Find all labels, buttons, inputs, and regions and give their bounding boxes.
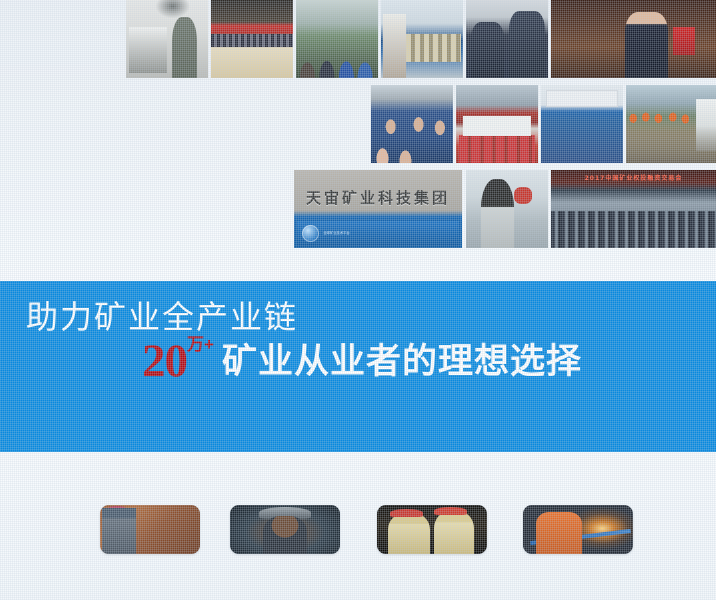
company-sign-info-bar: 全球矿业技术平台 — [297, 221, 458, 246]
banner-subheadline: 矿业从业者的理想选择 — [222, 342, 582, 381]
thumb-underground-workers-image — [377, 505, 487, 554]
photo-field-team-mountain — [296, 0, 378, 78]
photo-helmet-workers — [626, 85, 716, 163]
company-sign-text: 天宙矿业科技集团 — [301, 184, 456, 211]
promo-banner: 助力矿业全产业链 20万+矿业从业者的理想选择 — [0, 281, 716, 452]
photo-lab-technician-image — [126, 0, 208, 78]
helmet-icon-right — [434, 507, 467, 515]
photo-workshop-pair-image — [466, 0, 548, 78]
photo-executive-office-image — [551, 0, 716, 78]
photo-production-line-image — [381, 0, 463, 78]
photo-banner-group — [456, 85, 538, 163]
photo-conference-group-image: 2017中国矿业权投融资交易会 — [551, 170, 716, 248]
company-sign-subsidiaries: 全球矿业技术平台 — [323, 231, 458, 235]
thumb-furnace-worker[interactable] — [523, 505, 633, 554]
photo-award-ceremony-image — [211, 0, 293, 78]
banner-headline-line2: 20万+矿业从业者的理想选择 — [142, 338, 582, 385]
promo-page: 天宙矿业科技集团 全球矿业技术平台 2017中国矿业权投融资交易会 助力矿业全产… — [0, 0, 716, 600]
photo-woman-flag-image — [466, 170, 548, 248]
conference-banner-text: 2017中国矿业权投融资交易会 — [561, 173, 706, 182]
user-count-unit: 万+ — [187, 335, 214, 354]
photo-woman-flag — [466, 170, 548, 248]
photo-crew-group — [371, 85, 453, 163]
photo-conference-group: 2017中国矿业权投融资交易会 — [551, 170, 716, 248]
thumb-miner-portrait[interactable] — [230, 505, 340, 554]
photo-production-line — [381, 0, 463, 78]
user-count-number: 20 — [142, 335, 187, 387]
banner-headline-line1: 助力矿业全产业链 — [26, 292, 298, 338]
photo-mine-entrance-team-image — [541, 85, 623, 163]
helmet-icon-left — [390, 509, 423, 517]
photo-executive-office — [551, 0, 716, 78]
photo-banner-group-image — [456, 85, 538, 163]
photo-helmet-workers-image — [626, 85, 716, 163]
thumb-underground-workers[interactable] — [377, 505, 487, 554]
photo-mine-entrance-team — [541, 85, 623, 163]
photo-company-sign-image: 天宙矿业科技集团 全球矿业技术平台 — [294, 170, 462, 248]
photo-crew-group-image — [371, 85, 453, 163]
globe-icon — [302, 225, 319, 242]
thumb-geologist[interactable] — [100, 505, 200, 554]
photo-field-team-mountain-image — [296, 0, 378, 78]
photo-lab-technician — [126, 0, 208, 78]
photo-company-sign: 天宙矿业科技集团 全球矿业技术平台 — [294, 170, 462, 248]
thumb-geologist-image — [100, 505, 200, 554]
photo-workshop-pair — [466, 0, 548, 78]
photo-award-ceremony — [211, 0, 293, 78]
thumb-furnace-worker-image — [523, 505, 633, 554]
thumb-miner-portrait-image — [230, 505, 340, 554]
